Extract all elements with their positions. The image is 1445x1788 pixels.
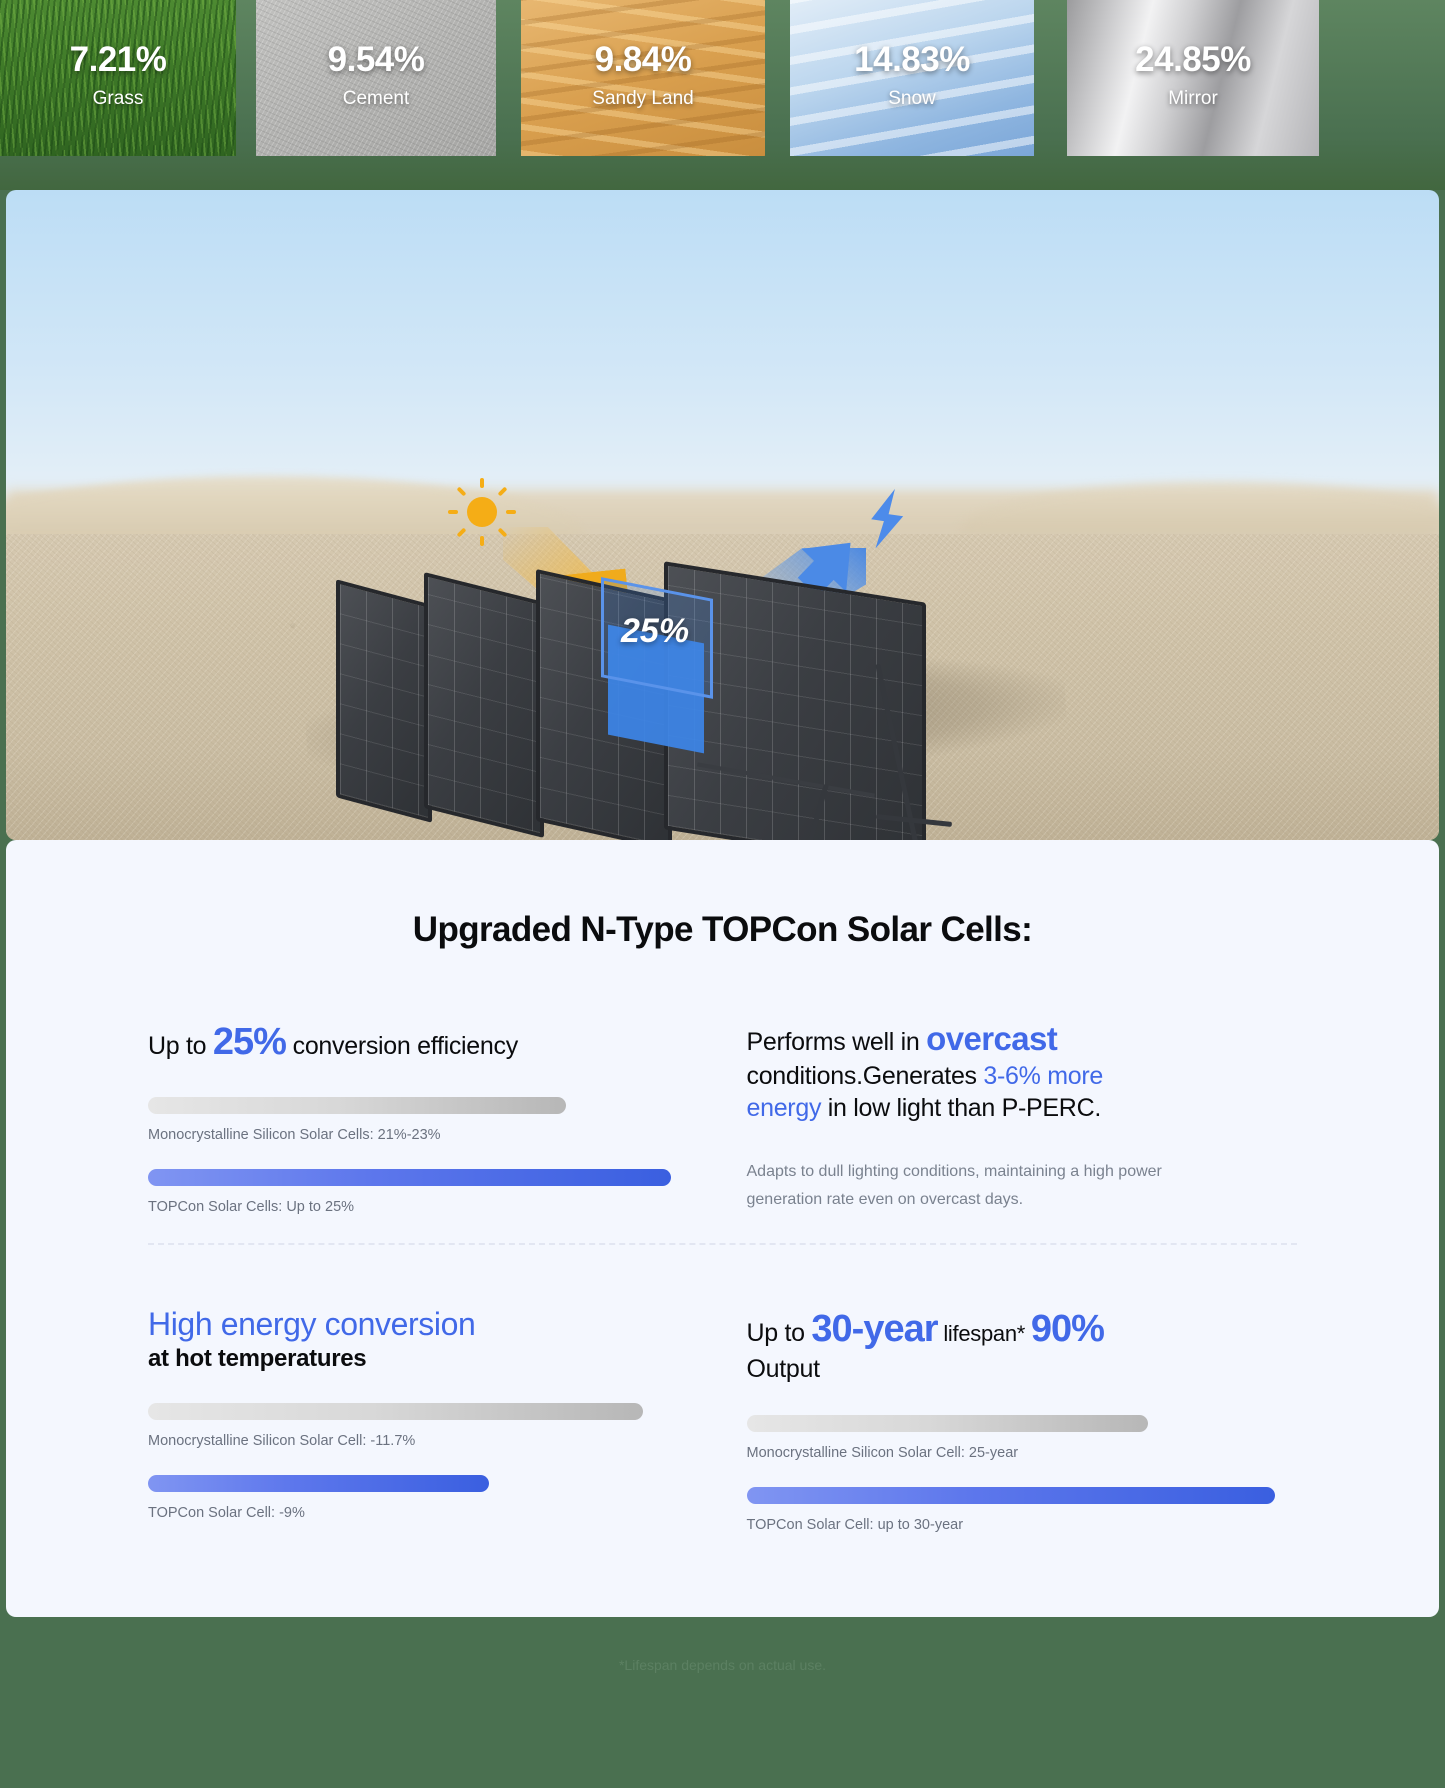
bar-label: Monocrystalline Silicon Solar Cell: 25-y… (747, 1445, 1298, 1461)
hero-image: 25% (6, 190, 1439, 840)
solar-panel-segment (424, 572, 544, 838)
product-detail-page: 7.21% Grass 9.54% Cement 9.84% Sandy Lan… (0, 0, 1445, 1788)
footnote-text: *Lifespan depends on actual use. (619, 1657, 826, 1675)
surface-card-cement: 9.54% Cement (256, 0, 496, 156)
feature-headline: High energy conversion (148, 1305, 699, 1343)
surface-label: Grass (70, 88, 167, 110)
headline-suffix: in low light than P-PERC. (821, 1094, 1101, 1122)
feature-paragraph: Adapts to dull lighting conditions, main… (747, 1158, 1217, 1213)
comparison-bars: Monocrystalline Silicon Solar Cell: -11.… (148, 1403, 699, 1521)
comparison-bars: Monocrystalline Silicon Solar Cell: 25-y… (747, 1415, 1298, 1533)
feature-headline: Up to 30-year lifespan* 90% Output (747, 1305, 1298, 1386)
headline-prefix: Up to (148, 1032, 213, 1060)
features-grid: Up to 25% conversion efficiency Monocrys… (6, 1018, 1439, 1543)
feature-headline: Performs well in overcast conditions.Gen… (747, 1018, 1298, 1124)
headline-highlight: energy (747, 1094, 822, 1122)
features-section: Upgraded N-Type TOPCon Solar Cells: Up t… (0, 840, 1445, 1617)
bar-topcon (747, 1487, 1275, 1504)
solar-panel-segment (336, 579, 432, 823)
surface-percent: 14.83% (854, 42, 970, 77)
bar-baseline (747, 1415, 1149, 1432)
sun-core (467, 497, 497, 527)
page-footer: *Lifespan depends on actual use. (0, 1617, 1445, 1675)
surface-percent: 24.85% (1135, 42, 1251, 77)
hero-section: 25% (0, 190, 1445, 840)
headline-highlight: 30-year (811, 1308, 937, 1350)
bar-topcon (148, 1475, 489, 1492)
headline-text: conditions.Generates (747, 1062, 984, 1090)
efficiency-badge-value: 25% (621, 612, 689, 651)
bar-topcon (148, 1169, 671, 1186)
surface-percent: 7.21% (70, 42, 167, 77)
headline-suffix: Output (747, 1355, 820, 1383)
comparison-bars: Monocrystalline Silicon Solar Cells: 21%… (148, 1097, 699, 1215)
headline-highlight: 3-6% more (983, 1062, 1103, 1090)
surface-label: Snow (854, 88, 970, 110)
surface-percent: 9.84% (592, 42, 693, 77)
surface-percent: 9.54% (328, 42, 425, 77)
surface-label: Cement (328, 88, 425, 110)
bar-label: TOPCon Solar Cell: -9% (148, 1505, 699, 1521)
headline-highlight: overcast (926, 1020, 1057, 1057)
feature-conversion-efficiency: Up to 25% conversion efficiency Monocrys… (148, 1018, 699, 1225)
albedo-surface-strip: 7.21% Grass 9.54% Cement 9.84% Sandy Lan… (0, 0, 1445, 190)
surface-card-mirror: 24.85% Mirror (1067, 0, 1319, 156)
bar-label: Monocrystalline Silicon Solar Cells: 21%… (148, 1127, 699, 1143)
feature-headline: Up to 25% conversion efficiency (148, 1018, 699, 1067)
headline-highlight: 25% (213, 1021, 286, 1063)
bar-baseline (148, 1097, 566, 1114)
bar-label: TOPCon Solar Cells: Up to 25% (148, 1199, 699, 1215)
page-title: Upgraded N-Type TOPCon Solar Cells: (6, 910, 1439, 950)
surface-card-snow: 14.83% Snow (790, 0, 1034, 156)
solar-panel-assembly: 25% (336, 582, 936, 840)
feature-lifespan-output: Up to 30-year lifespan* 90% Output Monoc… (747, 1245, 1298, 1544)
bar-label: TOPCon Solar Cell: up to 30-year (747, 1517, 1298, 1533)
surface-label: Mirror (1135, 88, 1251, 110)
surface-card-sandy-land: 9.84% Sandy Land (521, 0, 765, 156)
headline-prefix: Up to (747, 1319, 812, 1347)
headline-prefix: Performs well in (747, 1028, 927, 1056)
bar-baseline (148, 1403, 643, 1420)
feature-hot-temperature-conversion: High energy conversion at hot temperatur… (148, 1245, 699, 1544)
surface-card-grass: 7.21% Grass (0, 0, 236, 156)
headline-suffix: conversion efficiency (286, 1032, 518, 1060)
headline-text: lifespan* (938, 1321, 1031, 1346)
feature-subtitle: at hot temperatures (148, 1345, 699, 1373)
surface-label: Sandy Land (592, 88, 693, 110)
headline-highlight: 90% (1031, 1308, 1104, 1350)
feature-overcast-performance: Performs well in overcast conditions.Gen… (747, 1018, 1298, 1225)
bar-label: Monocrystalline Silicon Solar Cell: -11.… (148, 1433, 699, 1449)
